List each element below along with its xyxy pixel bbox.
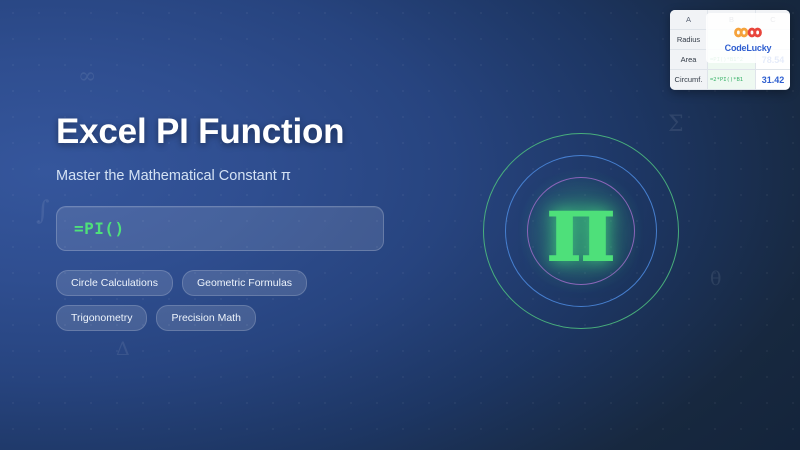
- hero-content: Excel PI Function Master the Mathematica…: [56, 112, 456, 331]
- page-subtitle: Master the Mathematical Constant π: [56, 168, 456, 184]
- hero-banner: ∞ ∫ Δ Σ θ Excel PI Function Master the M…: [0, 0, 800, 450]
- page-title: Excel PI Function: [56, 112, 456, 152]
- formula-display: =PI(): [56, 206, 384, 251]
- tag-trigonometry[interactable]: Trigonometry: [56, 305, 147, 331]
- theta-icon: θ: [710, 270, 721, 289]
- tag-list: Circle Calculations Geometric Formulas T…: [56, 270, 376, 331]
- tag-precision-math[interactable]: Precision Math: [156, 305, 255, 331]
- codelucky-logo-icon: [731, 23, 765, 42]
- spreadsheet-widget: A B C Radius Area =PI()*B1^2 78.54 Circu…: [670, 10, 790, 90]
- row-label-circumference: Circumf.: [670, 70, 708, 89]
- row-value-circumference: 31.42: [756, 70, 790, 89]
- delta-icon: Δ: [116, 340, 130, 359]
- tag-circle-calculations[interactable]: Circle Calculations: [56, 270, 173, 296]
- infinity-icon: ∞: [78, 66, 96, 88]
- row-label-radius: Radius: [670, 30, 708, 49]
- row-label-area: Area: [670, 50, 708, 69]
- formula-text: =PI(): [74, 219, 125, 238]
- column-header-a: A: [670, 10, 708, 29]
- pi-emblem: π: [483, 133, 679, 329]
- tag-geometric-formulas[interactable]: Geometric Formulas: [182, 270, 307, 296]
- table-row: Circumf. =2*PI()*B1 31.42: [670, 70, 790, 90]
- pi-symbol: π: [483, 133, 679, 329]
- integral-icon: ∫: [36, 198, 50, 224]
- row-formula-circumference[interactable]: =2*PI()*B1: [708, 70, 756, 89]
- watermark-overlay: CodeLucky: [706, 13, 790, 63]
- watermark-label: CodeLucky: [725, 43, 772, 53]
